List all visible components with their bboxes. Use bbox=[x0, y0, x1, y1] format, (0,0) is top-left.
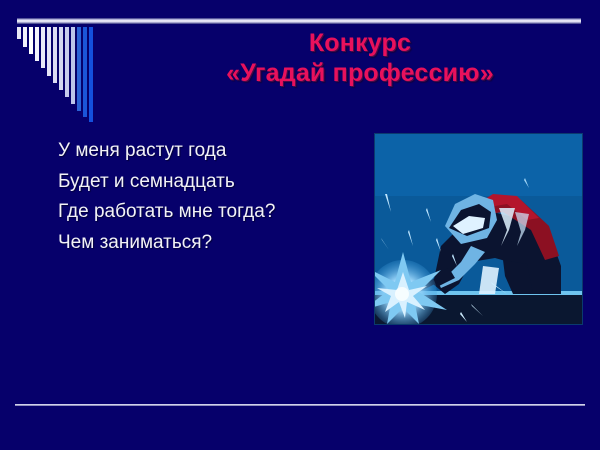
fan-bar-3 bbox=[29, 27, 33, 54]
illustration-upper-band bbox=[375, 134, 582, 196]
verse-line: Чем заниматься? bbox=[58, 228, 388, 259]
fan-bar-6 bbox=[47, 27, 51, 76]
fan-bar-10 bbox=[71, 27, 75, 104]
fan-bar-2 bbox=[23, 27, 27, 47]
verse-line: Будет и семнадцать bbox=[58, 167, 388, 198]
verse-line: У меня растут года bbox=[58, 136, 388, 167]
presentation-slide: Конкурс «Угадай профессию» У меня растут… bbox=[0, 0, 600, 450]
verse-text-block: У меня растут года Будет и семнадцать Гд… bbox=[58, 136, 388, 258]
top-rule-line bbox=[17, 18, 581, 24]
bottom-rule-line bbox=[15, 404, 585, 406]
fan-bar-7 bbox=[53, 27, 57, 83]
title-line-1: Конкурс bbox=[150, 28, 570, 58]
verse-line: Где работать мне тогда? bbox=[58, 197, 388, 228]
fan-bar-1 bbox=[17, 27, 21, 39]
page-title: Конкурс «Угадай профессию» bbox=[150, 28, 570, 88]
welder-with-sparks-illustration bbox=[374, 133, 583, 325]
fan-bar-5 bbox=[41, 27, 45, 68]
fan-bar-11 bbox=[77, 27, 81, 111]
fan-bar-4 bbox=[35, 27, 39, 61]
diagonal-bar-fan bbox=[17, 27, 95, 122]
fan-bar-9 bbox=[65, 27, 69, 97]
spark-core bbox=[395, 287, 409, 301]
title-line-2: «Угадай профессию» bbox=[150, 58, 570, 88]
fan-bar-13 bbox=[89, 27, 93, 122]
fan-bar-12 bbox=[83, 27, 87, 117]
fan-bar-8 bbox=[59, 27, 63, 90]
welder-illustration-svg bbox=[375, 134, 582, 324]
